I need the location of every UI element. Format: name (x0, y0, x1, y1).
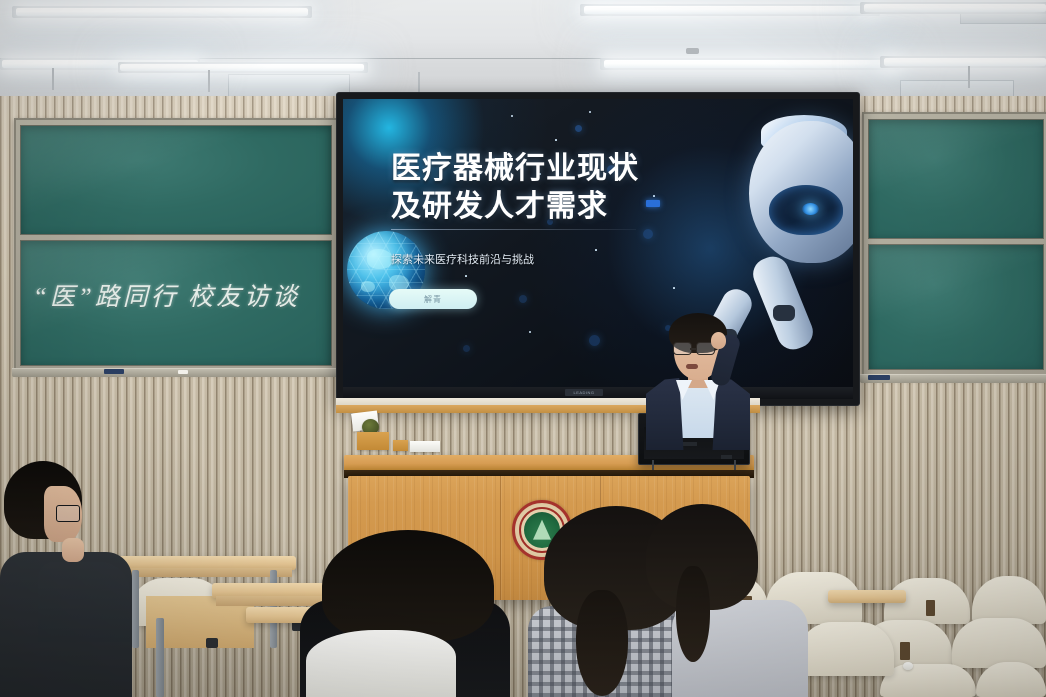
chalk-piece (178, 370, 188, 374)
ceiling-light (120, 64, 364, 71)
slide-title-line-2: 及研发人才需求 (391, 181, 608, 225)
seat-row-center-4[interactable] (798, 622, 894, 676)
podium-name-card (357, 432, 389, 450)
ceiling-light (884, 58, 1046, 66)
display-brand-label: LEADING (565, 389, 603, 396)
desk-leg-foot (206, 638, 218, 648)
ceiling-light (584, 6, 876, 14)
slide-subtitle: 探索未来医疗科技前沿与挑战 (391, 251, 534, 267)
student-right-ponytail-tail (676, 566, 710, 662)
podium-tissue-box (410, 441, 440, 452)
student-center-hood (306, 630, 456, 697)
ceiling-light (864, 4, 1046, 12)
monitor-port-tag (721, 455, 732, 459)
chalkboard-left-text: “医”路同行 校友访谈 (33, 277, 300, 313)
student-left-sleeve (38, 562, 130, 642)
display-screen: 医疗器械行业现状 及研发人才需求 探索未来医疗科技前沿与挑战 解青 (343, 99, 853, 387)
desk-leg (156, 618, 164, 697)
monitor-stand-left (652, 460, 654, 470)
student-left-hand (62, 538, 84, 562)
lecture-hall-photo: “医”路同行 校友访谈 (0, 0, 1046, 697)
ceiling-sensor (686, 48, 699, 54)
presenter-glasses-bridge (690, 348, 696, 350)
presenter-mouth (686, 364, 698, 369)
robot-eye (802, 203, 819, 215)
chalkboard-left-lower-panel: “医”路同行 校友访谈 (20, 240, 332, 366)
student-center-hair (322, 530, 494, 642)
slide-speaker-pill[interactable]: 解青 (389, 289, 477, 309)
slide-speaker-name: 解青 (424, 294, 442, 305)
desk-paper (903, 662, 913, 670)
presentation-display[interactable]: 医疗器械行业现状 及研发人才需求 探索未来医疗科技前沿与挑战 解青 LEADIN… (336, 92, 860, 406)
chalkboard-eraser (868, 375, 890, 380)
monitor-stand-right (734, 460, 736, 470)
chalkboard-eraser (104, 369, 124, 374)
seat-front-row-right-1[interactable] (880, 664, 976, 697)
seat-mid-row-right-2[interactable] (952, 618, 1046, 668)
slide-canvas: 医疗器械行业现状 及研发人才需求 探索未来医疗科技前沿与挑战 解青 (343, 99, 853, 387)
desk-apron-left-rear (112, 568, 292, 577)
robot-arm (748, 252, 817, 354)
ceiling-light (604, 60, 896, 68)
desk-leg (132, 570, 139, 648)
chalkboard-right (862, 112, 1046, 378)
ceiling-light (16, 8, 308, 16)
chalkboard-right-upper-panel (868, 119, 1044, 239)
student-left-glasses (56, 505, 80, 522)
monitor-indicator (683, 442, 697, 446)
chalkboard-left: “医”路同行 校友访谈 (14, 118, 338, 372)
chalkboard-left-upper-panel (20, 125, 332, 235)
presenter-hand-at-ear (711, 332, 726, 349)
chalkboard-right-lower-panel (868, 244, 1044, 370)
slide-title-divider (391, 229, 636, 230)
chalk-tray-left (12, 368, 338, 377)
podium-small-card (393, 440, 408, 451)
slide-accent-chip (646, 200, 660, 207)
student-center-ponytail-tail (576, 590, 628, 696)
student-desk-far-right (828, 590, 906, 603)
